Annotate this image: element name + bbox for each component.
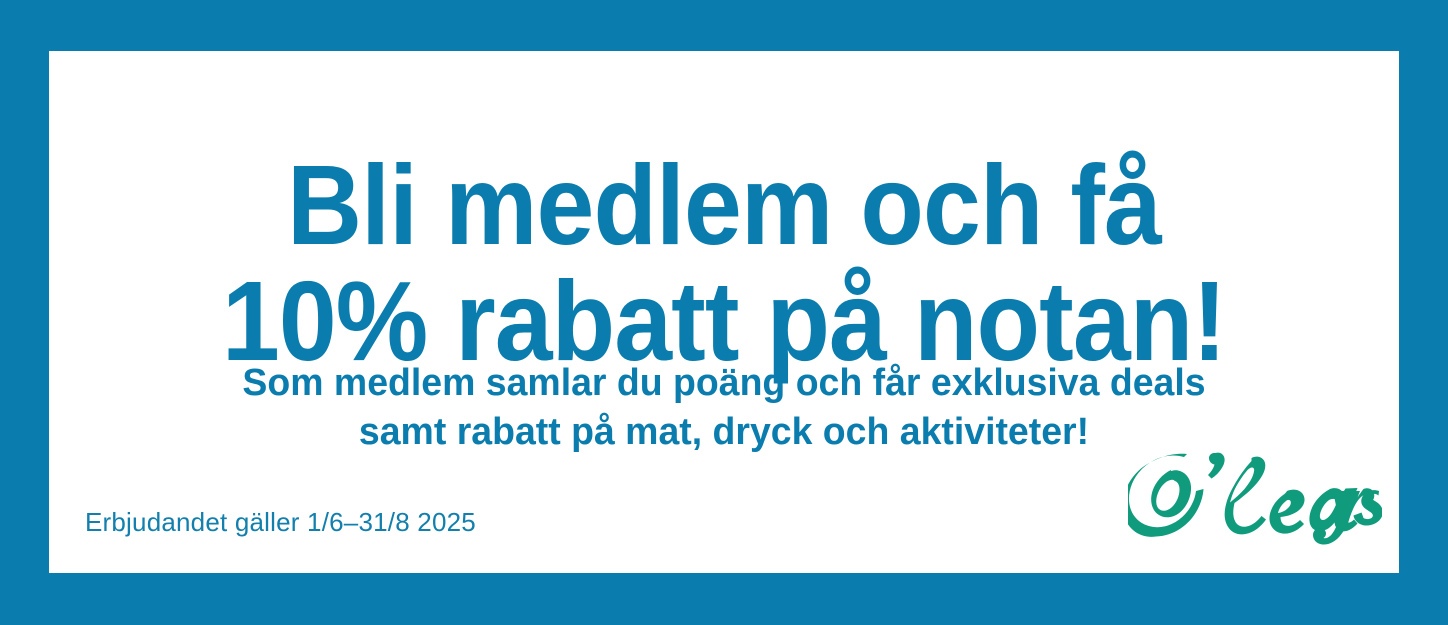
offer-validity-text: Erbjudandet gäller 1/6–31/8 2025 [85,507,476,537]
promo-banner: Bli medlem och få 10% rabatt på notan! S… [0,0,1448,625]
olearys-logo [1128,449,1382,547]
banner-white-panel: Bli medlem och få 10% rabatt på notan! S… [49,51,1399,573]
olearys-wordmark-glyphs [1128,453,1382,545]
headline: Bli medlem och få 10% rabatt på notan! [49,147,1399,379]
headline-line-1: Bli medlem och få [103,147,1345,263]
subtitle-line-1: Som medlem samlar du poäng och får exklu… [59,359,1389,408]
subtitle: Som medlem samlar du poäng och får exklu… [49,359,1399,457]
